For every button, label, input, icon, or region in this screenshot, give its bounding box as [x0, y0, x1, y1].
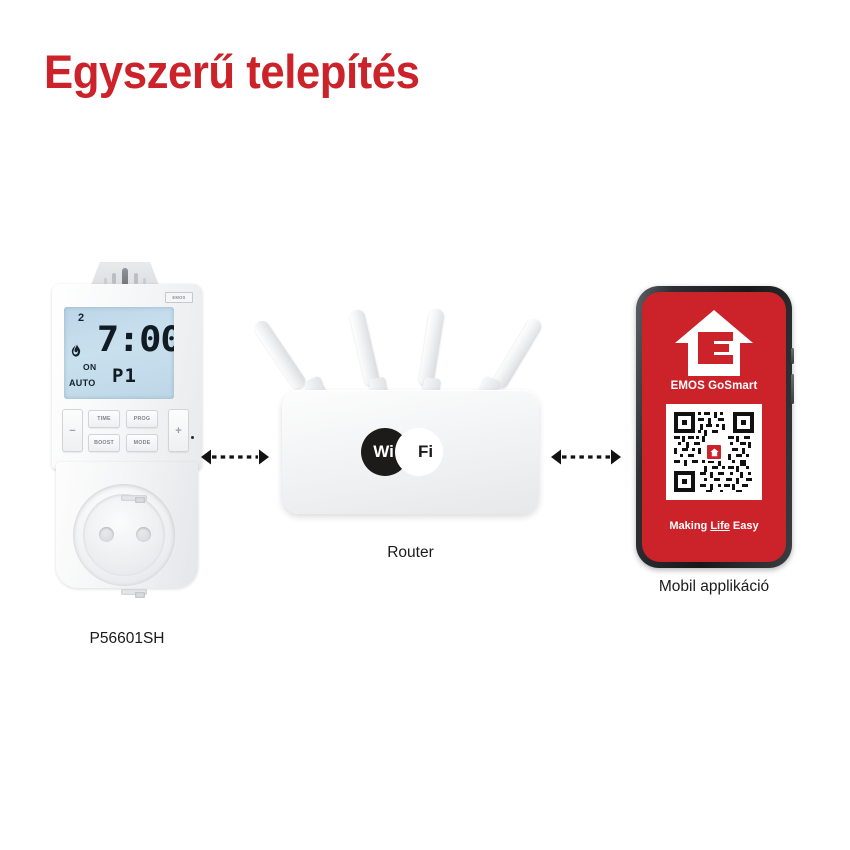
tagline: Making Life Easy: [642, 520, 786, 532]
time-button[interactable]: TIME: [88, 410, 120, 428]
socket-tab-bottom: [135, 592, 145, 598]
qr-finder-bl: [674, 471, 695, 492]
qr-finder-tl: [674, 412, 695, 433]
thermostat-device: EMOS 2 ON AUTO 7:00 P1 − TIME PROG BOOST…: [52, 262, 202, 592]
socket-face: [83, 494, 165, 576]
router-body: Wi Fi: [282, 390, 539, 514]
wifi-logo-fi: Fi: [395, 428, 443, 476]
antenna-3: [418, 308, 445, 387]
antenna-4: [491, 316, 544, 391]
plus-button[interactable]: +: [168, 409, 189, 452]
antenna-1: [252, 318, 308, 391]
socket-hole-right: [136, 527, 151, 542]
mode-button[interactable]: MODE: [126, 434, 158, 452]
lcd-on-indicator: ON: [83, 362, 97, 372]
router-caption: Router: [278, 544, 543, 562]
tagline-pre: Making: [669, 520, 710, 532]
antenna-2: [349, 308, 381, 387]
app-name-label: EMOS GoSmart: [642, 380, 786, 392]
socket-tab-top: [135, 497, 145, 503]
phone-screen[interactable]: EMOS GoSmart: [642, 292, 786, 562]
phone-power-button[interactable]: [791, 374, 794, 404]
flame-icon: [71, 343, 81, 357]
connector-thermostat-router: [200, 447, 270, 467]
plug-pin-right: [134, 273, 138, 284]
page-title: Egyszerű telepítés: [44, 44, 419, 99]
qr-finder-tr: [733, 412, 754, 433]
phone-frame: EMOS GoSmart: [636, 286, 792, 568]
minus-button[interactable]: −: [62, 409, 83, 452]
socket-housing: [56, 462, 198, 588]
qr-center-house-icon: [705, 443, 723, 461]
phone-volume-button[interactable]: [791, 348, 794, 364]
qr-code-grid: [674, 412, 754, 492]
boost-button[interactable]: BOOST: [88, 434, 120, 452]
lcd-display: 2 ON AUTO 7:00 P1: [64, 307, 174, 399]
connector-router-phone: [550, 447, 622, 467]
emos-badge: EMOS: [165, 292, 193, 303]
wifi-logo-icon: Wi Fi: [361, 428, 461, 476]
lcd-day-number: 2: [78, 312, 84, 324]
emos-house-icon: [675, 310, 753, 376]
led-indicator-icon: [191, 436, 194, 439]
plug-pin-left: [112, 273, 116, 284]
prog-button[interactable]: PROG: [126, 410, 158, 428]
socket-well: [73, 484, 175, 586]
qr-code-icon[interactable]: [666, 404, 762, 500]
socket-hole-left: [99, 527, 114, 542]
phone-caption: Mobil applikáció: [636, 578, 792, 596]
phone-device: EMOS GoSmart: [636, 286, 792, 586]
tagline-underlined: Life: [710, 520, 730, 532]
lcd-auto-indicator: AUTO: [69, 378, 96, 388]
tagline-post: Easy: [730, 520, 759, 532]
thermostat-caption: P56601SH: [52, 630, 202, 648]
router-device: Wi Fi Router: [278, 306, 543, 546]
thermostat-body: EMOS 2 ON AUTO 7:00 P1 − TIME PROG BOOST…: [52, 284, 202, 469]
lcd-program-value: P1: [112, 367, 137, 386]
lcd-time-value: 7:00: [96, 323, 174, 358]
